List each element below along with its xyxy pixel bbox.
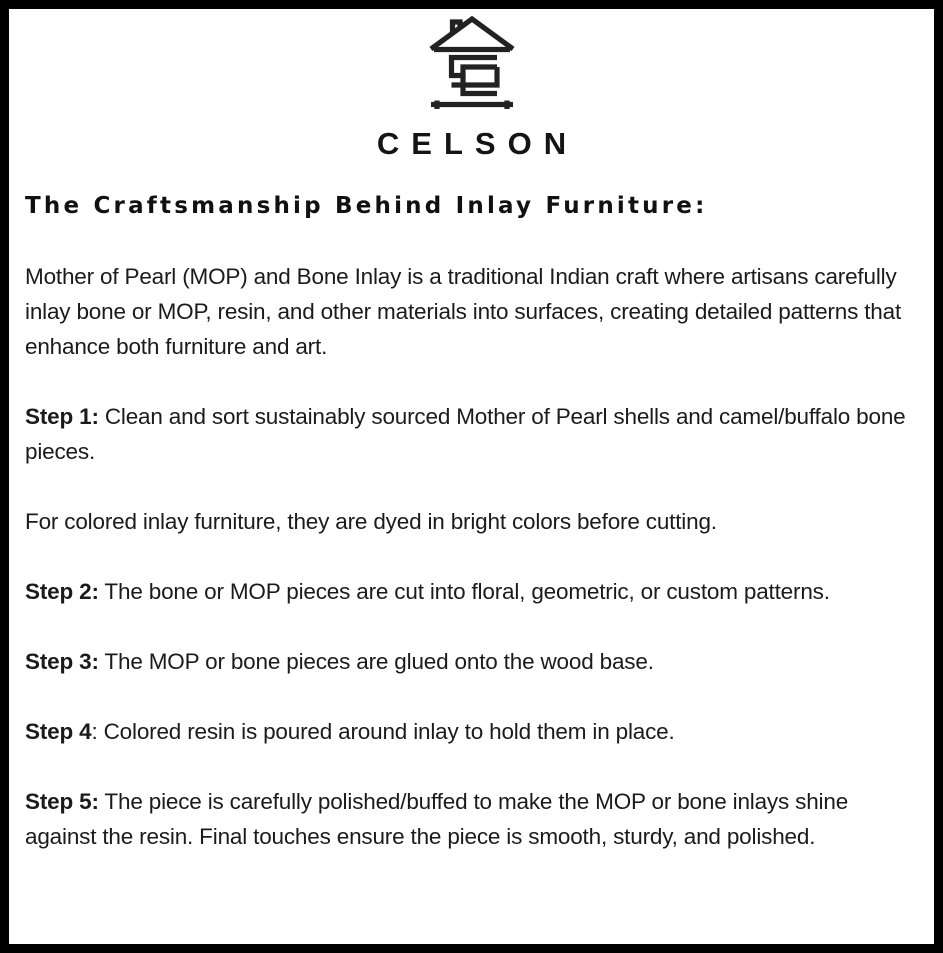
body-copy: Mother of Pearl (MOP) and Bone Inlay is …	[25, 259, 926, 854]
brand-block: CELSON	[17, 9, 926, 159]
step-4-paragraph: Step 4: Colored resin is poured around i…	[25, 714, 914, 749]
step-4-label: Step 4	[25, 719, 91, 744]
paragraph-text: For colored inlay furniture, they are dy…	[25, 509, 717, 534]
step-2-paragraph: Step 2: The bone or MOP pieces are cut i…	[25, 574, 914, 609]
step-3-text: The MOP or bone pieces are glued onto th…	[99, 649, 654, 674]
page-title: The Craftsmanship Behind Inlay Furniture…	[25, 193, 926, 221]
step-2-text: The bone or MOP pieces are cut into flor…	[99, 579, 830, 604]
paragraph-text: Mother of Pearl (MOP) and Bone Inlay is …	[25, 264, 901, 359]
step-2-label: Step 2:	[25, 579, 99, 604]
step-1-label: Step 1:	[25, 404, 99, 429]
house-monogram-icon	[423, 14, 521, 114]
intro-paragraph: Mother of Pearl (MOP) and Bone Inlay is …	[25, 259, 914, 364]
step-5-text: The piece is carefully polished/buffed t…	[25, 789, 848, 849]
step-5-label: Step 5:	[25, 789, 99, 814]
poster-card: CELSON The Craftsmanship Behind Inlay Fu…	[0, 0, 943, 953]
step-4-text: : Colored resin is poured around inlay t…	[91, 719, 674, 744]
step-5-paragraph: Step 5: The piece is carefully polished/…	[25, 784, 914, 854]
brand-wordmark: CELSON	[17, 128, 926, 159]
poster-content: CELSON The Craftsmanship Behind Inlay Fu…	[9, 9, 934, 944]
step-1-paragraph: Step 1: Clean and sort sustainably sourc…	[25, 399, 914, 469]
step-3-label: Step 3:	[25, 649, 99, 674]
step-1-text: Clean and sort sustainably sourced Mothe…	[25, 404, 906, 464]
step-3-paragraph: Step 3: The MOP or bone pieces are glued…	[25, 644, 914, 679]
coloring-note-paragraph: For colored inlay furniture, they are dy…	[25, 504, 914, 539]
